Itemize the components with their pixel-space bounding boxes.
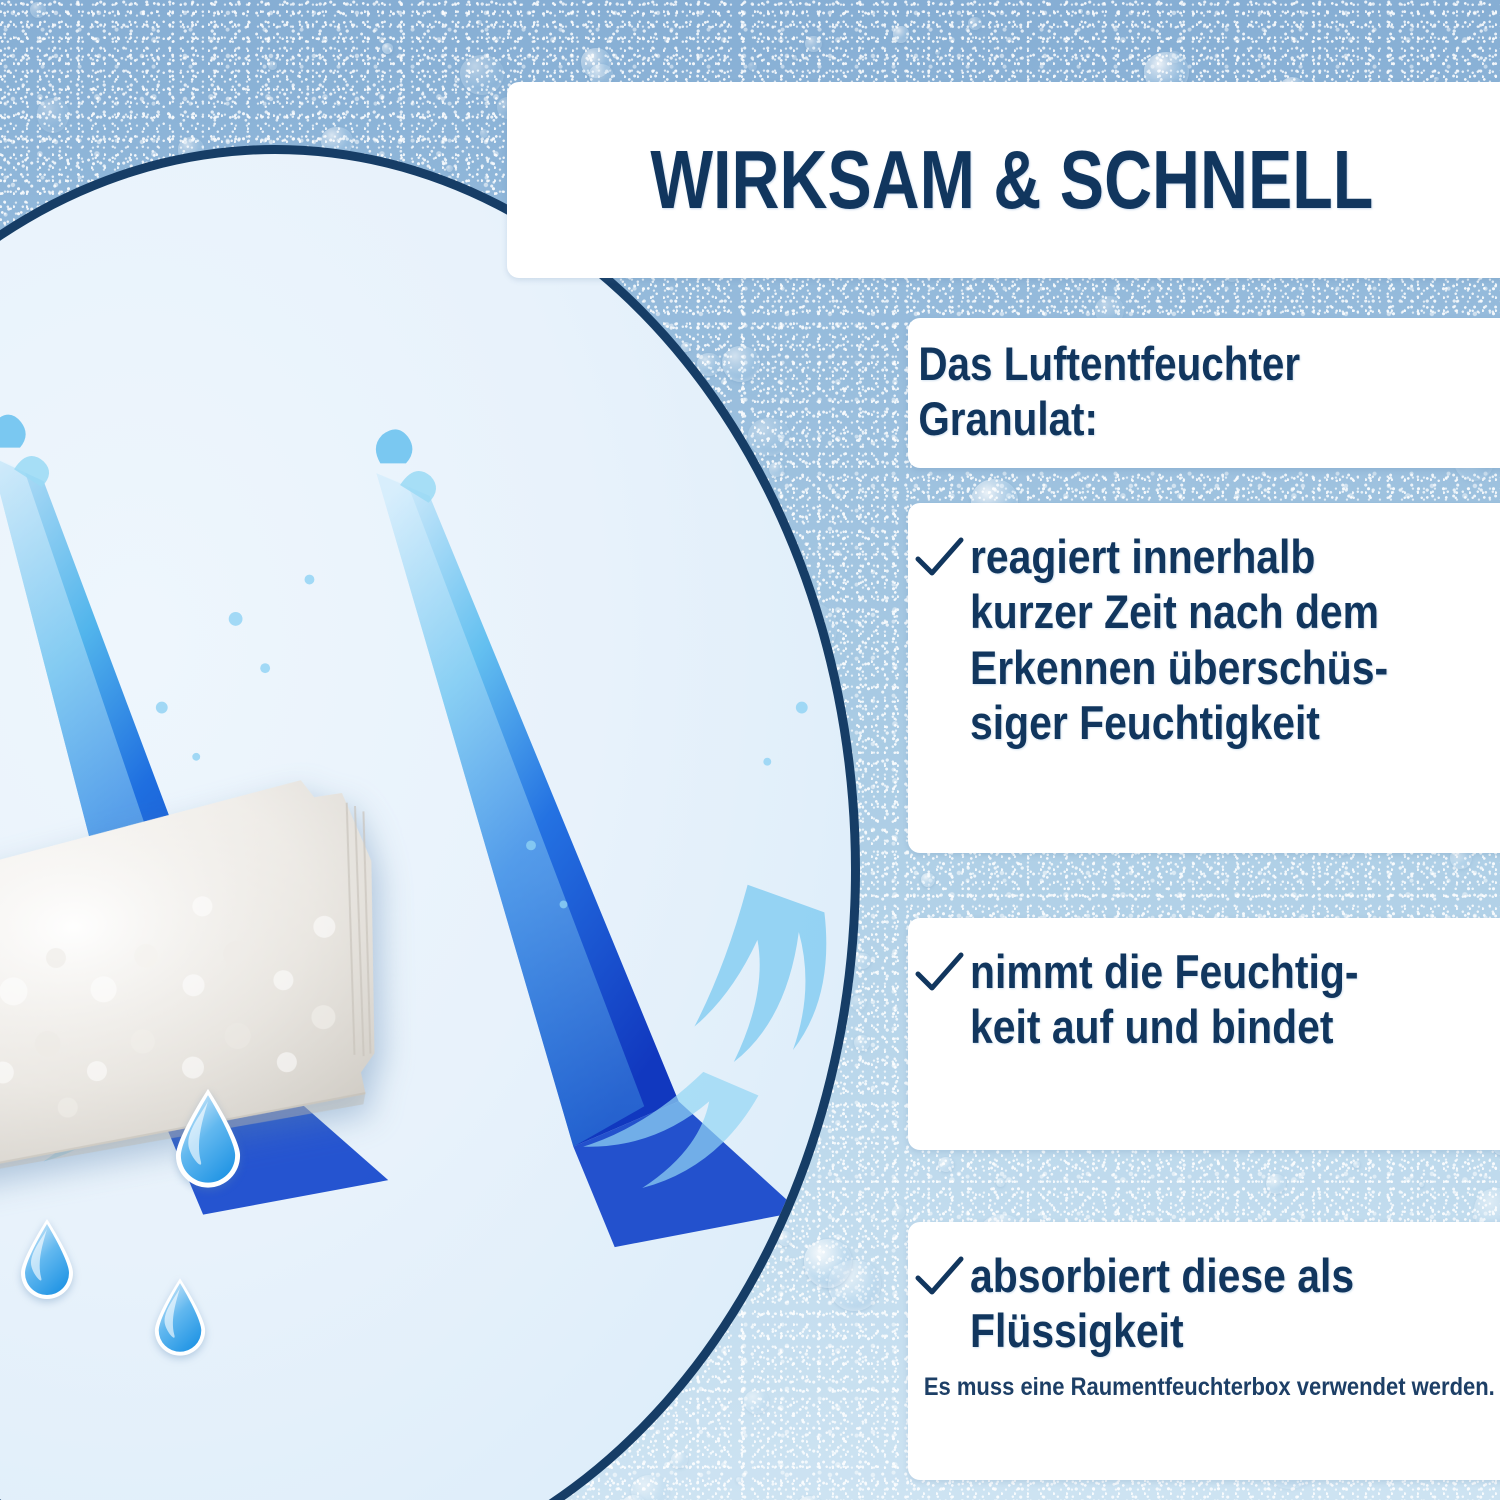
benefit-text: absorbiert diese als Flüssigkeit xyxy=(970,1248,1354,1359)
benefit-text: nimmt die Feuchtig- keit auf und bindet xyxy=(970,944,1358,1055)
water-droplet-icon xyxy=(17,1217,77,1299)
title-panel: WIRKSAM & SCHNELL xyxy=(507,82,1500,278)
checkmark-icon xyxy=(914,952,970,1001)
benefit-item: nimmt die Feuchtig- keit auf und bindet xyxy=(908,918,1500,1055)
feature-circle: BLUECRAFT xyxy=(0,145,860,1500)
intro-heading: Das Luftentfeuchter Granulat: xyxy=(908,318,1434,447)
benefit-item: absorbiert diese als Flüssigkeit xyxy=(908,1222,1500,1359)
benefit-item: reagiert innerhalb kurzer Zeit nach dem … xyxy=(908,503,1500,751)
fineprint-note: Es muss eine Raumentfeuchterbox verwende… xyxy=(908,1359,1447,1402)
intro-panel: Das Luftentfeuchter Granulat: xyxy=(908,318,1500,468)
water-droplet-icon xyxy=(151,1276,209,1356)
benefit-panel-2: nimmt die Feuchtig- keit auf und bindet xyxy=(908,918,1500,1150)
checkmark-icon xyxy=(914,537,970,586)
page-title: WIRKSAM & SCHNELL xyxy=(650,132,1373,228)
benefit-panel-1: reagiert innerhalb kurzer Zeit nach dem … xyxy=(908,503,1500,853)
benefit-text: reagiert innerhalb kurzer Zeit nach dem … xyxy=(970,529,1388,751)
water-droplet-icon xyxy=(171,1086,245,1188)
checkmark-icon xyxy=(914,1256,970,1305)
product-infographic: BLUECRAFT xyxy=(0,0,1500,1500)
benefit-panel-3: absorbiert diese als Flüssigkeit Es muss… xyxy=(908,1222,1500,1480)
